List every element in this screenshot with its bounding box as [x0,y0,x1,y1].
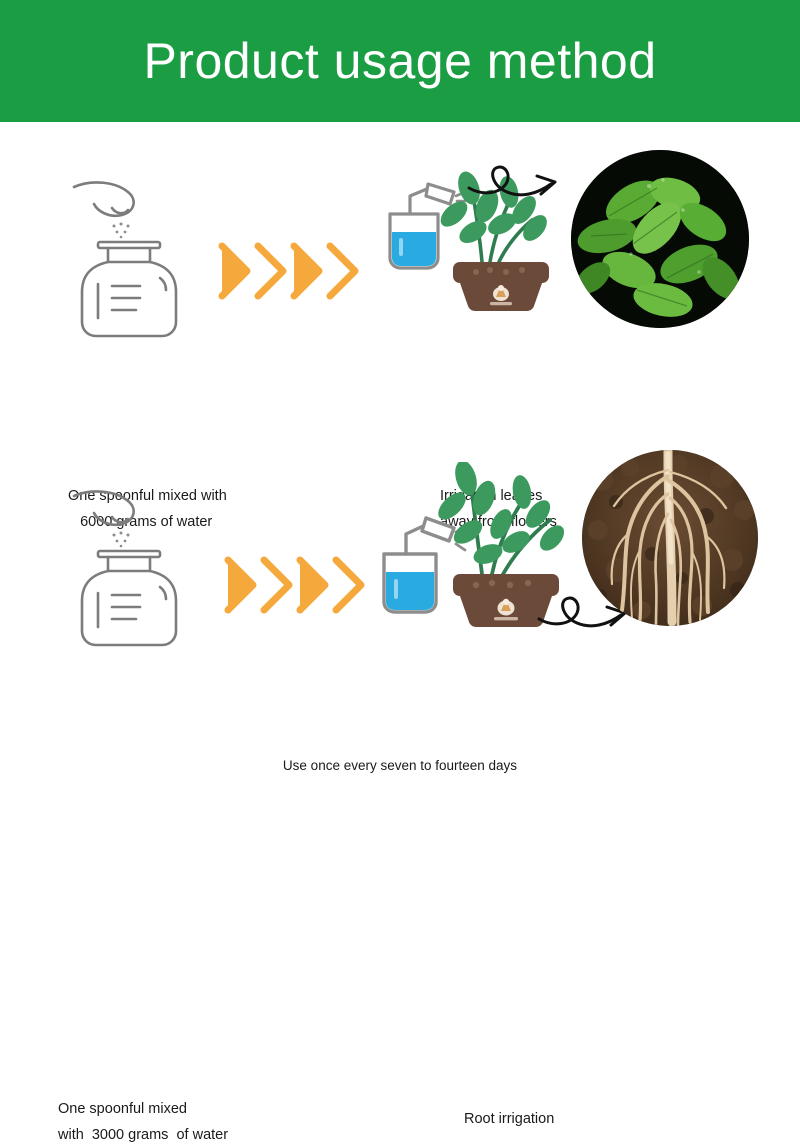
spoon-and-bottle-icon [60,477,235,652]
spoon-and-bottle-icon [60,168,235,343]
curly-arrow-icon [463,156,573,214]
step-row-root-irrigation: One spoonful mixed with 3000 grams of wa… [0,432,800,722]
green-leaves-photo [571,150,749,328]
watering-can-icon [384,518,467,612]
chevron-arrows-icon [222,552,374,618]
usage-frequency-note: Use once every seven to fourteen days [0,758,800,773]
flower-pot-icon [453,262,549,311]
dose-caption-root: One spoonful mixed with 3000 grams of wa… [58,1096,228,1148]
watering-can-icon [390,184,466,268]
step-row-leaf-irrigation: One spoonful mixed with 6000 grams of wa… [0,128,800,418]
page-header: Product usage method [0,0,800,122]
plant-icon [434,462,569,576]
page-title: Product usage method [143,36,656,86]
plant-roots-in-soil-photo [582,450,758,626]
action-caption-root: Root irrigation [464,1106,554,1132]
chevron-arrows-icon [216,238,368,304]
